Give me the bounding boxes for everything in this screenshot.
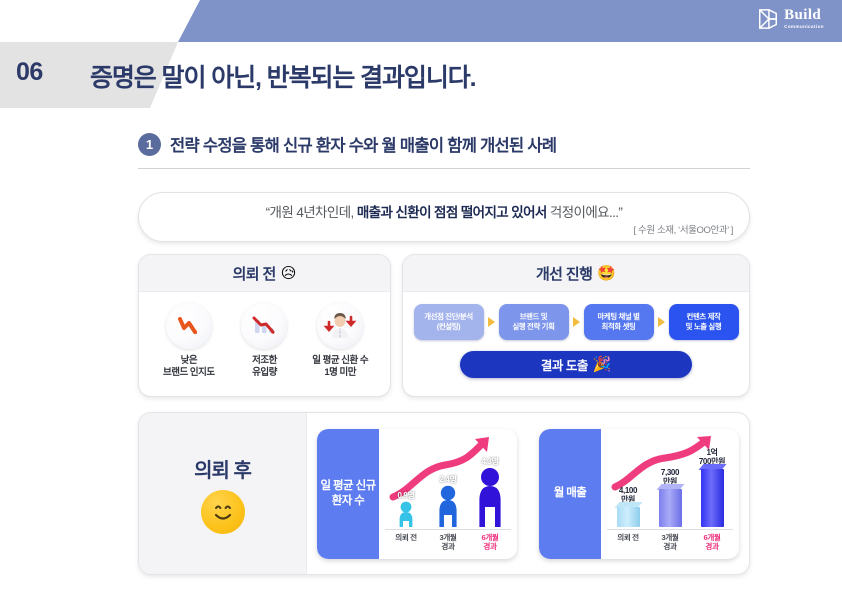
before-item-line2: 브랜드 인지도 [163, 367, 215, 378]
smiling-face-emoji [201, 490, 245, 534]
step-line1: 마케팅 채널 별 [597, 312, 639, 321]
process-step-2[interactable]: 브랜드 및 실행 전략 기획 [499, 304, 569, 340]
process-step-text: 마케팅 채널 별 최적화 셋팅 [597, 312, 639, 332]
slide-root: Build Communication 06 증명은 말이 아닌, 반복되는 결… [0, 0, 842, 596]
result-button[interactable]: 결과 도출 🎉 [460, 351, 692, 378]
chart-2-plot: 4,100 만원 7,300 만원 [607, 433, 733, 527]
build-logo-icon [757, 8, 779, 30]
step-line1: 컨텐츠 제작 [687, 312, 721, 321]
section-heading-label: 전략 수정을 통해 신규 환자 수와 월 매출이 함께 개선된 사례 [170, 132, 556, 156]
metric-1-title: 일 평균 신규 환자 수 [317, 479, 379, 509]
chart-1-plot: 0.9명 2.4명 [385, 433, 511, 527]
revenue-bar-icon [659, 489, 682, 527]
chart-2-tick-2: 6개월 경과 [694, 533, 730, 552]
before-card-title: 의뢰 전 [233, 263, 276, 284]
process-step-text: 브랜드 및 실행 전략 기획 [512, 312, 554, 332]
before-item-line2: 유입량 [252, 367, 277, 378]
metric-2-label: 월 매출 [539, 429, 601, 559]
chart-1-bar-0: 0.9명 [389, 491, 423, 527]
section-heading: 1 전략 수정을 통해 신규 환자 수와 월 매출이 함께 개선된 사례 [138, 132, 556, 156]
after-card-label: 의뢰 후 [139, 413, 307, 574]
before-item-label: 낮은 브랜드 인지도 [153, 355, 225, 379]
icon-circle [241, 303, 287, 349]
brand-tagline: Communication [784, 23, 824, 30]
metric-2-title-line: 월 매출 [554, 486, 587, 501]
after-metrics: 일 평균 신규 환자 수 0.9명 [307, 413, 749, 574]
metric-monthly-revenue: 월 매출 4,100 만원 [539, 429, 739, 559]
chart-2-bar-0: 4,100 만원 [611, 486, 645, 527]
process-step-1[interactable]: 개선점 진단/분석 (컨설팅) [414, 304, 484, 340]
party-popper-emoji: 🎉 [593, 357, 611, 372]
process-steps: 개선점 진단/분석 (컨설팅) 브랜드 및 실행 전략 기획 마케팅 채널 별 … [403, 292, 749, 340]
icon-circle [317, 303, 363, 349]
quote-lead: “개원 4년차인데, [266, 205, 357, 220]
step-line1: 개선점 진단/분석 [424, 312, 473, 321]
before-item-label: 저조한 유입량 [228, 355, 300, 379]
process-step-4[interactable]: 컨텐츠 제작 및 노출 실행 [669, 304, 739, 340]
process-step-3[interactable]: 마케팅 채널 별 최적화 셋팅 [584, 304, 654, 340]
revenue-bar-icon [617, 507, 640, 527]
slide-number: 06 [16, 58, 43, 87]
before-item-line1: 일 평균 신환 수 [312, 355, 368, 366]
chevron-right-icon [573, 317, 580, 327]
metric-1-label: 일 평균 신규 환자 수 [317, 429, 379, 559]
before-card-header: 의뢰 전 😥 [139, 255, 390, 292]
quote-tail: 걱정이에요...” [547, 205, 623, 220]
crying-face-emoji: 😥 [281, 266, 297, 281]
step-line2: 최적화 셋팅 [602, 322, 636, 331]
chart-1-value-2: 4.3명 [481, 457, 498, 467]
step-line2: 실행 전략 기획 [512, 322, 554, 331]
after-card: 의뢰 후 일 평균 신규 환자 수 [138, 412, 750, 575]
before-item-brand-awareness: 낮은 브랜드 인지도 [153, 303, 225, 379]
declining-line-chart-icon [174, 311, 204, 341]
brand-name: Build [784, 8, 821, 23]
chart-2-bars: 4,100 만원 7,300 만원 [607, 433, 733, 527]
chart-1-bar-1: 2.4명 [431, 475, 465, 527]
metric-new-patients: 일 평균 신규 환자 수 0.9명 [317, 429, 517, 559]
section-badge: 1 [138, 133, 161, 156]
before-icon-row: 낮은 브랜드 인지도 저조한 유입량 [139, 292, 390, 379]
result-button-label: 결과 도출 [541, 355, 588, 374]
step-line2: 및 노출 실행 [686, 322, 722, 331]
chart-1-bar-2: 4.3명 [473, 457, 507, 527]
chart-1-value-0: 0.9명 [397, 491, 414, 501]
before-item-traffic: 저조한 유입량 [228, 303, 300, 379]
chart-1-tick-1: 3개월 경과 [430, 533, 466, 552]
doctor-down-arrow-icon [323, 311, 357, 341]
quote-text: “개원 4년차인데, 매출과 신환이 점점 떨어지고 있어서 걱정이에요...” [139, 201, 749, 221]
quote-citation: [ 수원 소재, ‘서울OO안과’ ] [634, 222, 733, 236]
process-step-text: 컨텐츠 제작 및 노출 실행 [686, 312, 722, 332]
chart-2-axis-labels: 의뢰 전 3개월 경과 6개월 경과 [607, 533, 733, 552]
before-item-line2: 1명 미만 [324, 367, 356, 378]
chart-2-tick-0: 의뢰 전 [610, 533, 646, 543]
chart-1-bars: 0.9명 2.4명 [385, 433, 511, 527]
chart-1-tick-0: 의뢰 전 [388, 533, 424, 543]
header-blue-band [0, 0, 842, 42]
page-title: 증명은 말이 아닌, 반복되는 결과입니다. [90, 58, 475, 94]
before-item-new-patients: 일 평균 신환 수 1명 미만 [304, 303, 376, 379]
chart-2-tick-1: 3개월 경과 [652, 533, 688, 552]
brand-logo: Build Communication [757, 8, 824, 30]
person-figure-icon [473, 467, 507, 527]
quote-emphasis: 매출과 신환이 점점 떨어지고 있어서 [357, 205, 547, 220]
chevron-right-icon [488, 317, 495, 327]
section-divider [138, 168, 750, 169]
process-card-header: 개선 진행 🤩 [403, 255, 749, 292]
before-item-line1: 저조한 [252, 355, 277, 366]
before-card: 의뢰 전 😥 낮은 브랜드 인지도 [138, 254, 391, 397]
chart-1-value-1: 2.4명 [439, 475, 456, 485]
chart-2-bar-1: 7,300 만원 [653, 468, 687, 527]
icon-circle [166, 303, 212, 349]
after-card-title: 의뢰 후 [194, 454, 251, 483]
process-card: 개선 진행 🤩 개선점 진단/분석 (컨설팅) 브랜드 및 실행 전략 기획 [402, 254, 750, 397]
chart-2-bar-2: 1억 700만원 [695, 448, 729, 527]
before-item-label: 일 평균 신환 수 1명 미만 [304, 355, 376, 379]
person-figure-icon [434, 485, 462, 527]
metric-2-chart: 4,100 만원 7,300 만원 [601, 429, 739, 559]
falling-bar-chart-icon [248, 311, 280, 341]
metric-1-title-line: 일 평균 신규 환자 수 [320, 480, 375, 507]
person-figure-icon [395, 501, 417, 527]
process-step-text: 개선점 진단/분석 (컨설팅) [424, 312, 473, 332]
star-struck-emoji: 🤩 [597, 266, 616, 281]
chart-2-axis [607, 529, 733, 530]
process-card-title: 개선 진행 [536, 263, 592, 284]
metric-1-chart: 0.9명 2.4명 [379, 429, 517, 559]
step-line2: (컨설팅) [437, 322, 461, 331]
revenue-bar-icon [701, 469, 724, 527]
client-quote-box: “개원 4년차인데, 매출과 신환이 점점 떨어지고 있어서 걱정이에요...”… [138, 192, 750, 242]
chevron-right-icon [658, 317, 665, 327]
before-item-line1: 낮은 [181, 355, 197, 366]
chart-1-axis [385, 529, 511, 530]
smiley-face-glyph [207, 496, 239, 528]
step-line1: 브랜드 및 [520, 312, 548, 321]
chart-1-tick-2: 6개월 경과 [472, 533, 508, 552]
chart-1-axis-labels: 의뢰 전 3개월 경과 6개월 경과 [385, 533, 511, 552]
